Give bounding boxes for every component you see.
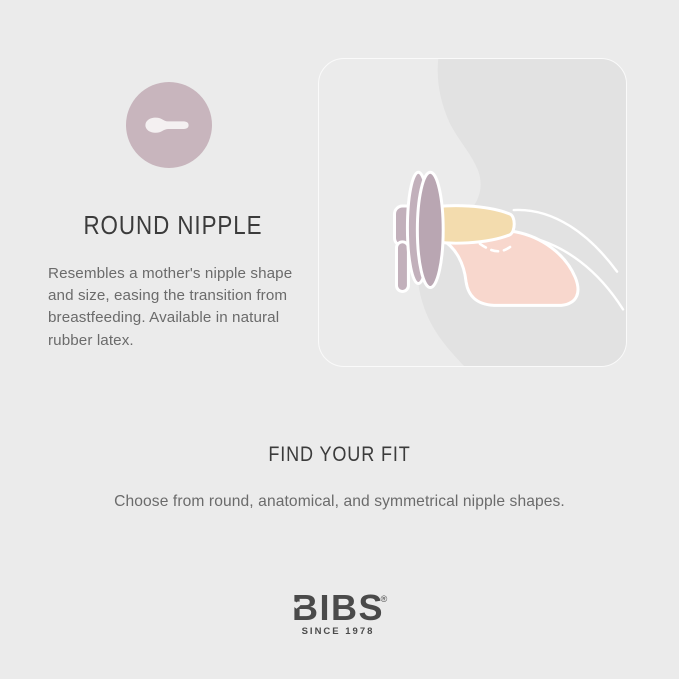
registered-mark: ®	[380, 594, 387, 604]
brand-logo: BIBS ® SINCE 1978	[0, 588, 679, 640]
find-your-fit-subtitle: Choose from round, anatomical, and symme…	[0, 493, 679, 511]
feature-block: ROUND NIPPLE Resembles a mother's nipple…	[48, 82, 298, 352]
feature-title: ROUND NIPPLE	[66, 210, 281, 241]
find-your-fit-title: FIND YOUR FIT	[48, 443, 632, 467]
find-your-fit-block: FIND YOUR FIT Choose from round, anatomi…	[0, 443, 679, 511]
pacifier-handle-stem	[396, 242, 408, 292]
product-feature-page: ROUND NIPPLE Resembles a mother's nipple…	[0, 0, 679, 679]
pacifier-shield-front	[417, 172, 443, 287]
feature-description: Resembles a mother's nipple shape and si…	[48, 263, 298, 352]
round-nipple-icon	[126, 82, 212, 168]
pacifier-in-mouth-illustration	[319, 59, 626, 366]
bibs-wordmark: BIBS	[291, 588, 383, 628]
round-nipple-icon-svg	[126, 82, 212, 168]
brand-tagline: SINCE 1978	[301, 626, 374, 637]
bibs-logo-svg: BIBS ® SINCE 1978	[280, 588, 400, 640]
illustration-card	[318, 58, 627, 367]
